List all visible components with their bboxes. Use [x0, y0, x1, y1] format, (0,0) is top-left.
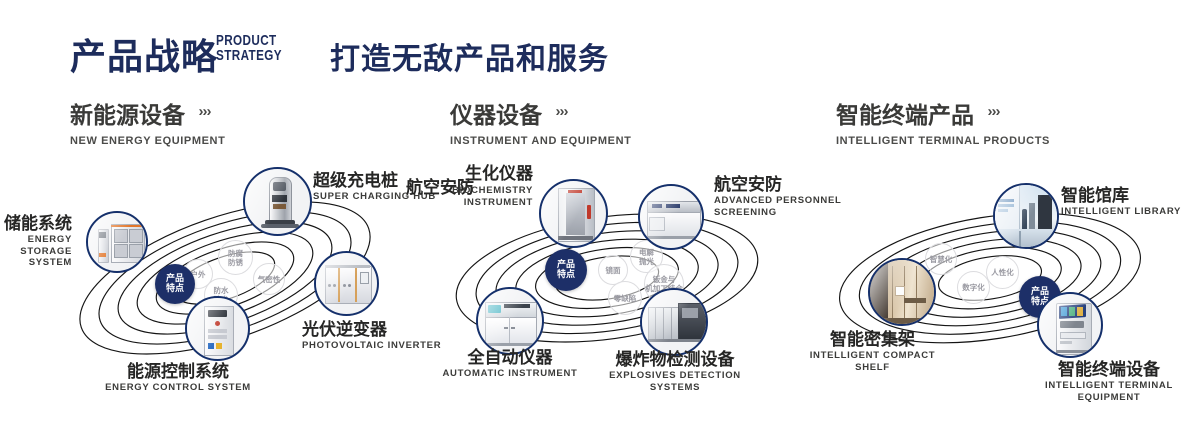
chevron-right-icon: ››› [987, 103, 999, 120]
section-title-cn: 新能源设备 [70, 96, 185, 130]
node-energy-storage[interactable] [86, 211, 148, 273]
node-super-charging-hub[interactable] [243, 167, 312, 236]
node-label-cn: 航空安防 [714, 175, 842, 195]
node-personnel-screening[interactable] [638, 184, 704, 250]
node-label-cn: 全自动仪器 [432, 348, 588, 368]
section-title-en: INTELLIGENT TERMINAL PRODUCTS [836, 135, 1050, 147]
node-label-cn: 能源控制系统 [88, 362, 268, 382]
section-title-cn: 仪器设备 [450, 96, 542, 130]
section-title-en: INSTRUMENT AND EQUIPMENT [450, 135, 631, 147]
section-title-cn: 智能终端产品 [836, 96, 974, 130]
node-label-en: PHOTOVOLTAIC INVERTER [302, 340, 441, 352]
node-label-en: AUTOMATIC INSTRUMENT [432, 368, 588, 380]
page-title-english: PRODUCT STRATEGY [216, 33, 282, 63]
node-label-en: BIOCHEMISTRY INSTRUMENT [401, 185, 533, 208]
feature-bubble: 气密性 [253, 263, 285, 295]
core-bubble: 产品 特点 [545, 249, 587, 291]
node-label-cn: 智能终端设备 [1018, 360, 1200, 380]
node-label-cn: 爆炸物检测设备 [592, 350, 758, 370]
node-security-gate[interactable] [539, 179, 608, 248]
label-energy-control-system: 能源控制系统 ENERGY CONTROL SYSTEM [88, 362, 268, 394]
node-pv-inverter[interactable] [314, 251, 379, 316]
node-label-en: INTELLIGENT TERMINAL EQUIPMENT [1018, 380, 1200, 403]
label-personnel-screening: 航空安防 ADVANCED PERSONNEL SCREENING [714, 175, 842, 218]
section-title-en: NEW ENERGY EQUIPMENT [70, 135, 225, 147]
node-intelligent-library[interactable] [993, 183, 1059, 249]
product-strategy-infographic: 产品战略 PRODUCT STRATEGY 打造无敌产品和服务 新能源设备 ››… [0, 0, 1200, 422]
node-label-cn: 生化仪器 [401, 164, 533, 184]
feature-bubble: 零缺陷 [608, 281, 642, 315]
node-label-en: ADVANCED PERSONNEL SCREENING [714, 195, 842, 218]
node-compact-shelf[interactable] [868, 258, 936, 326]
page-title: 产品战略 [70, 28, 218, 80]
node-label-cn: 光伏逆变器 [302, 320, 441, 340]
label-compact-shelf: 智能密集架 INTELLIGENT COMPACT SHELF [795, 330, 950, 373]
node-terminal-kiosk[interactable] [1037, 292, 1103, 358]
node-label-cn: 智能馆库 [1061, 186, 1181, 206]
node-automatic-instrument[interactable] [476, 287, 544, 355]
node-label-en: EXPLOSIVES DETECTION SYSTEMS [592, 370, 758, 393]
label-terminal-kiosk: 智能终端设备 INTELLIGENT TERMINAL EQUIPMENT [1018, 360, 1200, 403]
node-label-cn: 智能密集架 [795, 330, 950, 350]
label-explosives-detector: 爆炸物检测设备 EXPLOSIVES DETECTION SYSTEMS [592, 350, 758, 393]
node-explosives-detector[interactable] [640, 288, 708, 356]
node-label-en: INTELLIGENT LIBRARY [1061, 206, 1181, 218]
header: 产品战略 PRODUCT STRATEGY 打造无敌产品和服务 [0, 0, 1200, 90]
node-energy-control-system[interactable] [185, 296, 250, 361]
feature-bubble: 防腐 防锈 [218, 240, 253, 275]
node-label-cn: 储能系统 [0, 214, 72, 234]
label-energy-storage: 储能系统 ENERGY STORAGE SYSTEM [0, 214, 72, 269]
chevron-right-icon: ››› [555, 103, 567, 120]
node-label-en: ENERGY CONTROL SYSTEM [88, 382, 268, 394]
section-header-instrument: 仪器设备 ››› INSTRUMENT AND EQUIPMENT [450, 96, 631, 147]
node-label-en: INTELLIGENT COMPACT SHELF [795, 350, 950, 373]
label-pv-inverter: 光伏逆变器 PHOTOVOLTAIC INVERTER [302, 320, 441, 352]
feature-bubble: 人性化 [986, 256, 1019, 289]
chevron-right-icon: ››› [198, 103, 210, 120]
page-slogan: 打造无敌产品和服务 [330, 34, 609, 78]
node-label-en: ENERGY STORAGE SYSTEM [0, 234, 72, 269]
label-biochemistry-instrument: 生化仪器 BIOCHEMISTRY INSTRUMENT [401, 164, 533, 208]
label-intelligent-library: 智能馆库 INTELLIGENT LIBRARY [1061, 186, 1181, 218]
section-header-intelligent-terminal: 智能终端产品 ››› INTELLIGENT TERMINAL PRODUCTS [836, 96, 1050, 147]
feature-bubble: 数字化 [957, 271, 990, 304]
section-header-new-energy: 新能源设备 ››› NEW ENERGY EQUIPMENT [70, 96, 225, 147]
label-automatic-instrument: 全自动仪器 AUTOMATIC INSTRUMENT [432, 348, 588, 380]
